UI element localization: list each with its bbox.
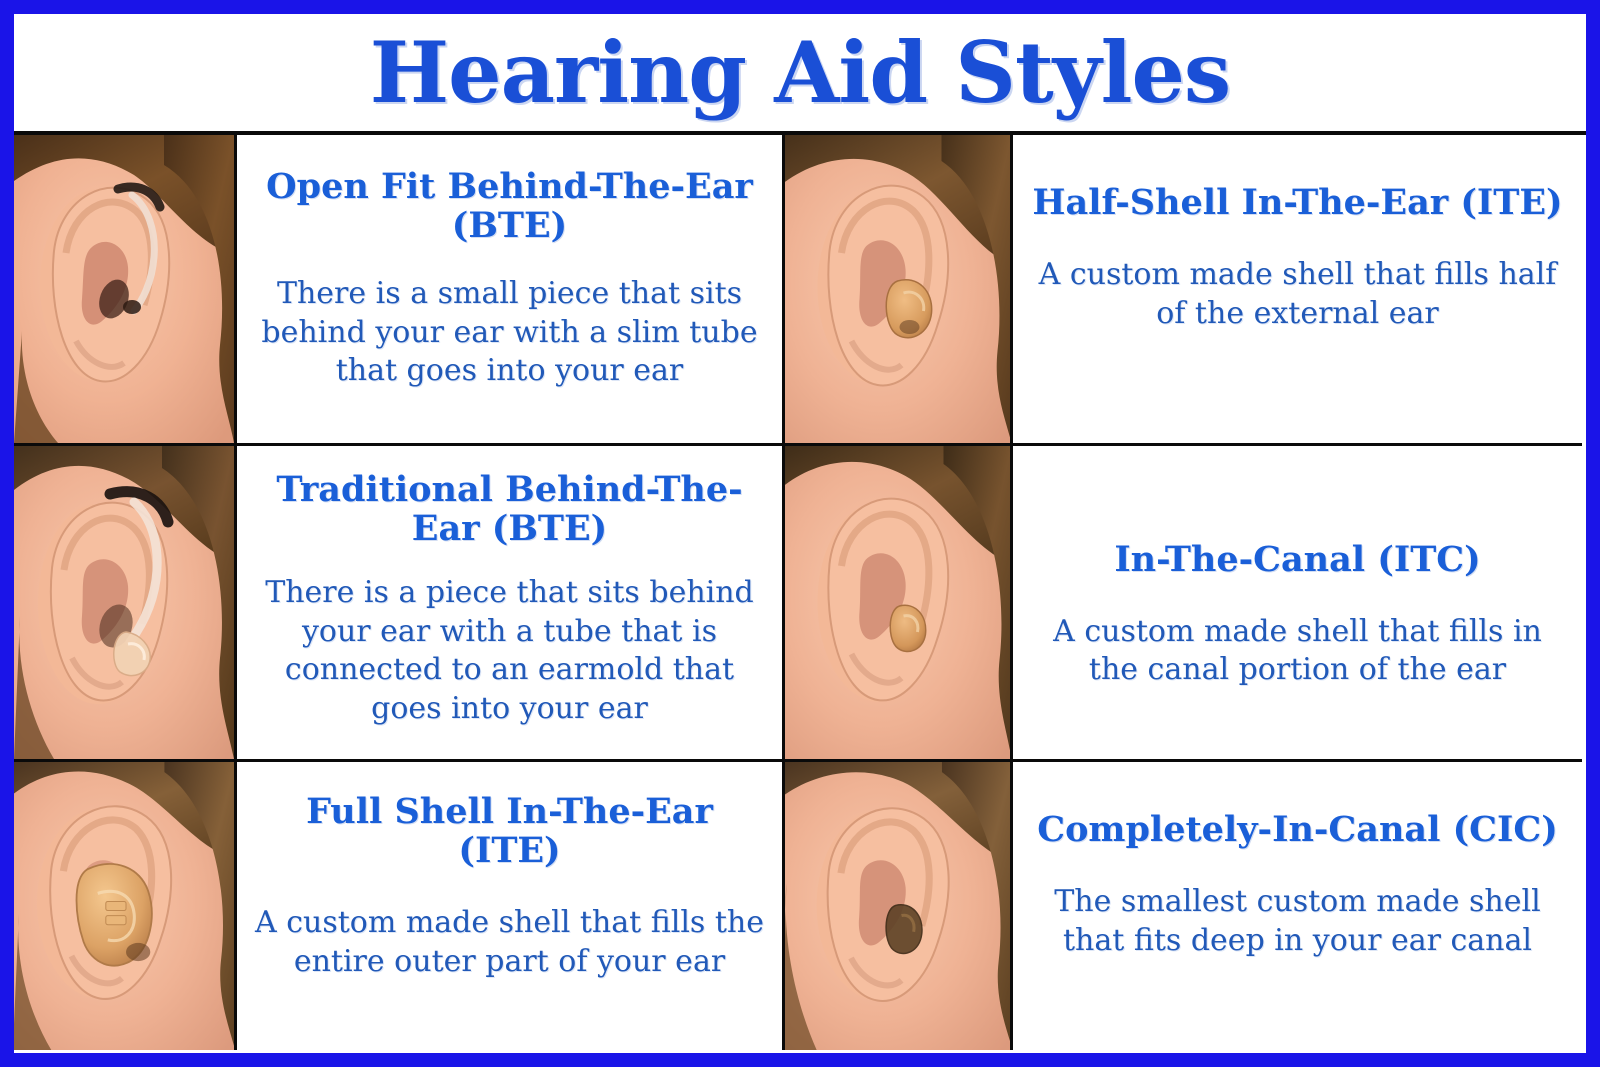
photo-cell-traditional-bte — [14, 446, 237, 762]
ear-photo-itc-icon — [785, 446, 1010, 759]
text-cell-half-shell-ite: Half-Shell In-The-Ear (ITE) A custom mad… — [1013, 135, 1582, 446]
ear-photo-open-fit-bte-icon — [14, 135, 234, 443]
poster: Hearing Aid Styles — [14, 14, 1586, 1053]
text-cell-completely-in-canal-cic: Completely-In-Canal (CIC) The smallest c… — [1013, 762, 1582, 1050]
style-description-completely-in-canal-cic: The smallest custom made shell that fits… — [1031, 883, 1564, 960]
style-heading-half-shell-ite: Half-Shell In-The-Ear (ITE) — [1032, 183, 1562, 222]
style-heading-traditional-bte: Traditional Behind-The-Ear (BTE) — [255, 470, 764, 548]
photo-cell-full-shell-ite — [14, 762, 237, 1050]
style-description-full-shell-ite: A custom made shell that fills the entir… — [255, 904, 764, 981]
styles-grid: Open Fit Behind-The-Ear (BTE) There is a… — [14, 135, 1586, 1049]
style-heading-open-fit-bte: Open Fit Behind-The-Ear (BTE) — [255, 167, 764, 245]
text-cell-in-the-canal-itc: In-The-Canal (ITC) A custom made shell t… — [1013, 446, 1582, 762]
ear-photo-half-shell-ite-icon — [785, 135, 1010, 443]
ear-photo-full-shell-ite-icon — [14, 762, 234, 1050]
style-heading-full-shell-ite: Full Shell In-The-Ear (ITE) — [255, 792, 764, 870]
style-description-open-fit-bte: There is a small piece that sits behind … — [255, 275, 764, 390]
style-description-traditional-bte: There is a piece that sits behind your e… — [255, 574, 764, 728]
style-heading-completely-in-canal-cic: Completely-In-Canal (CIC) — [1037, 810, 1558, 849]
ear-photo-cic-icon — [785, 762, 1010, 1050]
text-cell-full-shell-ite: Full Shell In-The-Ear (ITE) A custom mad… — [237, 762, 785, 1050]
ear-photo-traditional-bte-icon — [14, 446, 234, 759]
photo-cell-completely-in-canal-cic — [785, 762, 1013, 1050]
photo-cell-open-fit-bte — [14, 135, 237, 446]
style-description-half-shell-ite: A custom made shell that fills half of t… — [1031, 256, 1564, 333]
photo-cell-in-the-canal-itc — [785, 446, 1013, 762]
photo-cell-half-shell-ite — [785, 135, 1013, 446]
text-cell-traditional-bte: Traditional Behind-The-Ear (BTE) There i… — [237, 446, 785, 762]
text-cell-open-fit-bte: Open Fit Behind-The-Ear (BTE) There is a… — [237, 135, 785, 446]
style-heading-in-the-canal-itc: In-The-Canal (ITC) — [1114, 540, 1480, 579]
style-description-in-the-canal-itc: A custom made shell that fills in the ca… — [1031, 613, 1564, 690]
title-bar: Hearing Aid Styles — [14, 14, 1586, 135]
page-title: Hearing Aid Styles — [370, 31, 1230, 115]
